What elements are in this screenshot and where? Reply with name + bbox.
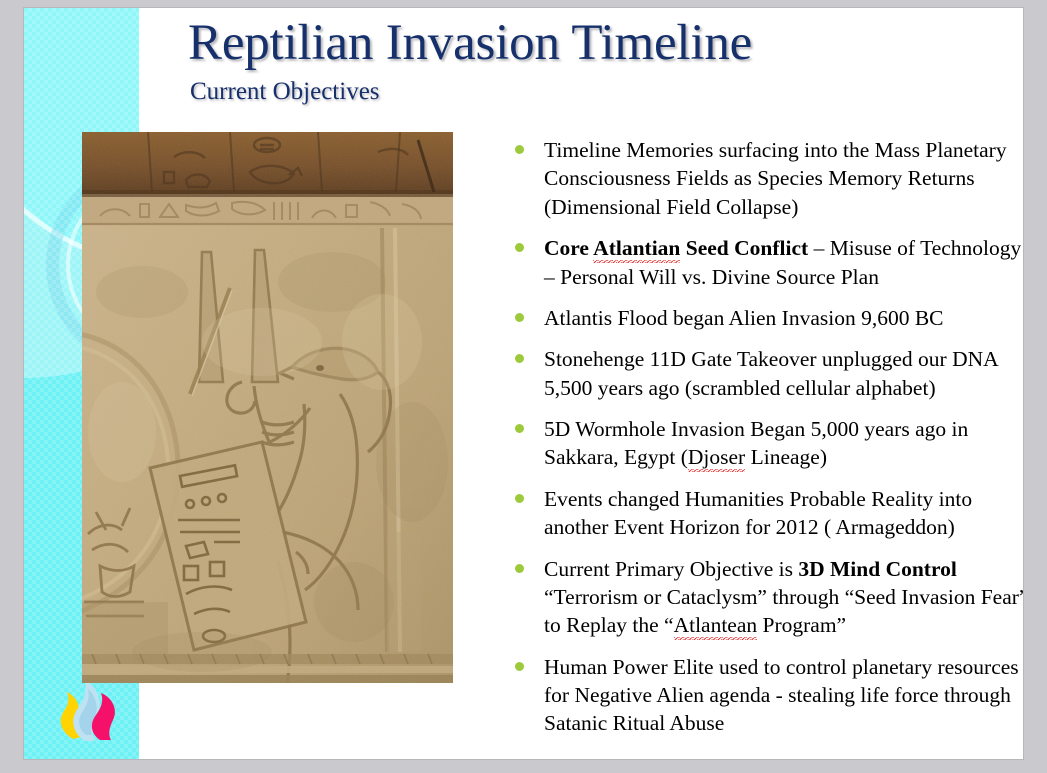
bullet-dot-icon xyxy=(515,243,524,252)
bullet-dot-icon xyxy=(515,354,524,363)
text-run: Seed Conflict xyxy=(680,236,808,260)
text-run: Core xyxy=(544,236,593,260)
text-run: Atlantis Flood began Alien Invasion 9,60… xyxy=(544,306,944,330)
text-run: Timeline Memories surfacing into the Mas… xyxy=(544,138,1007,219)
list-item-text: Timeline Memories surfacing into the Mas… xyxy=(544,136,1023,221)
spellcheck-underlined-word: Atlantian xyxy=(593,236,680,263)
text-run: Human Power Elite used to control planet… xyxy=(544,655,1019,736)
list-item: Current Primary Objective is 3D Mind Con… xyxy=(492,555,1023,640)
text-run: Stonehenge 11D Gate Takeover unplugged o… xyxy=(544,347,997,399)
text-run: 3D Mind Control xyxy=(798,557,956,581)
list-item: Events changed Humanities Probable Reali… xyxy=(492,485,1023,542)
text-run: Program” xyxy=(757,613,846,637)
spellcheck-underlined-word: Djoser xyxy=(688,445,745,472)
list-item: Core Atlantian Seed Conflict – Misuse of… xyxy=(492,234,1023,291)
bullet-dot-icon xyxy=(515,313,524,322)
text-run: Current Primary Objective is xyxy=(544,557,798,581)
spellcheck-underlined-word: Atlantean xyxy=(674,613,758,640)
presentation-slide: Reptilian Invasion Timeline Current Obje… xyxy=(24,8,1023,759)
list-item-text: 5D Wormhole Invasion Began 5,000 years a… xyxy=(544,415,1023,472)
page-subtitle: Current Objectives xyxy=(190,78,380,106)
list-item: 5D Wormhole Invasion Began 5,000 years a… xyxy=(492,415,1023,472)
list-item: Human Power Elite used to control planet… xyxy=(492,653,1023,738)
list-item-text: Core Atlantian Seed Conflict – Misuse of… xyxy=(544,234,1023,291)
list-item: Stonehenge 11D Gate Takeover unplugged o… xyxy=(492,345,1023,402)
bullet-dot-icon xyxy=(515,424,524,433)
list-item-text: Events changed Humanities Probable Reali… xyxy=(544,485,1023,542)
list-item: Atlantis Flood began Alien Invasion 9,60… xyxy=(492,304,1023,332)
list-item-text: Human Power Elite used to control planet… xyxy=(544,653,1023,738)
bullet-dot-icon xyxy=(515,494,524,503)
list-item-text: Atlantis Flood began Alien Invasion 9,60… xyxy=(544,304,1023,332)
text-run: Events changed Humanities Probable Reali… xyxy=(544,487,972,539)
text-run: Lineage) xyxy=(745,445,827,469)
bullet-dot-icon xyxy=(515,145,524,154)
egyptian-relief-photo xyxy=(82,132,453,683)
bullet-dot-icon xyxy=(515,662,524,671)
bullet-dot-icon xyxy=(515,564,524,573)
list-item: Timeline Memories surfacing into the Mas… xyxy=(492,136,1023,221)
screenshot-stage: Reptilian Invasion Timeline Current Obje… xyxy=(0,0,1047,773)
objectives-bullet-list: Timeline Memories surfacing into the Mas… xyxy=(492,136,1023,751)
list-item-text: Stonehenge 11D Gate Takeover unplugged o… xyxy=(544,345,1023,402)
page-title: Reptilian Invasion Timeline xyxy=(188,16,1008,70)
list-item-text: Current Primary Objective is 3D Mind Con… xyxy=(544,555,1023,640)
